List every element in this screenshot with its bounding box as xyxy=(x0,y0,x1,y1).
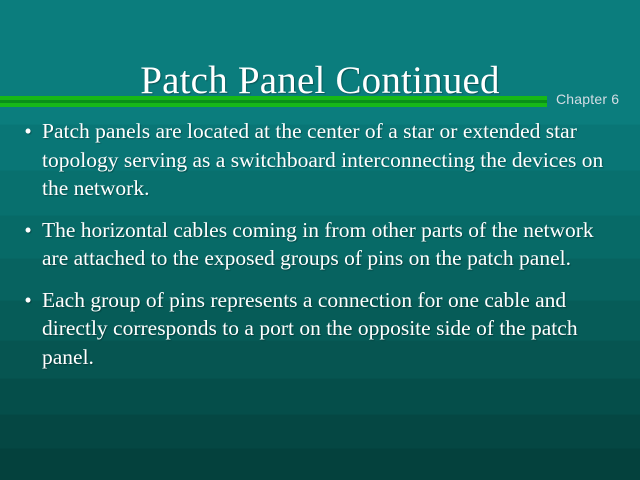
bullet-point-icon: • xyxy=(14,286,42,315)
list-item: • Each group of pins represents a connec… xyxy=(14,286,622,372)
bullet-text: The horizontal cables coming in from oth… xyxy=(42,216,622,273)
bullet-text: Patch panels are located at the center o… xyxy=(42,117,622,203)
slide-body: • Patch panels are located at the center… xyxy=(14,117,622,384)
bullet-text: Each group of pins represents a connecti… xyxy=(42,286,622,372)
bullet-point-icon: • xyxy=(14,216,42,245)
list-item: • The horizontal cables coming in from o… xyxy=(14,216,622,273)
presentation-slide: Patch Panel Continued Chapter 6 • Patch … xyxy=(0,0,640,480)
divider-stripe-bottom xyxy=(0,103,547,107)
bullet-point-icon: • xyxy=(14,117,42,146)
chapter-label: Chapter 6 xyxy=(556,91,619,107)
list-item: • Patch panels are located at the center… xyxy=(14,117,622,203)
title-divider-bar xyxy=(0,96,547,107)
